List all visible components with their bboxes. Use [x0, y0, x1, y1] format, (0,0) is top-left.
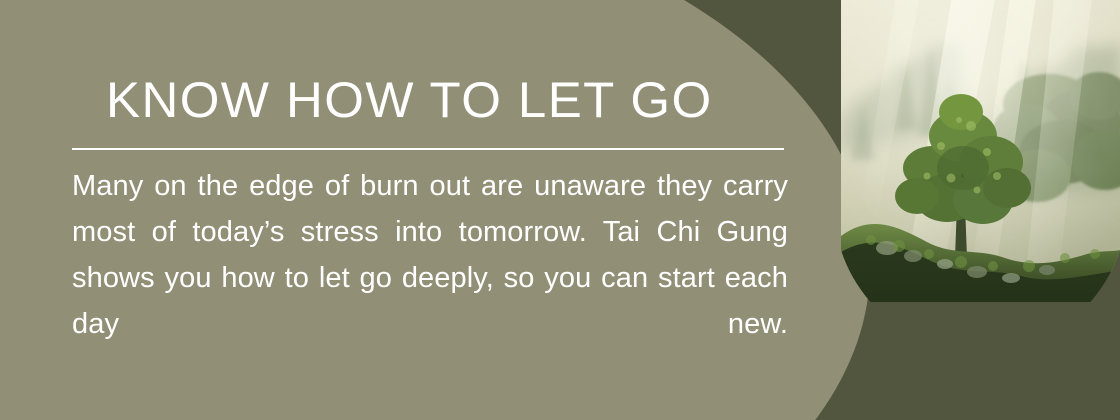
forest-photo-clip	[841, 0, 1120, 302]
body-paragraph: Many on the edge of burn out are unaware…	[72, 163, 788, 393]
title-divider	[72, 148, 784, 150]
forest-photo-panel	[841, 0, 1120, 302]
page-title: KNOW HOW TO LET GO	[106, 74, 802, 127]
promo-banner: KNOW HOW TO LET GO Many on the edge of b…	[0, 0, 1120, 420]
text-content: KNOW HOW TO LET GO Many on the edge of b…	[72, 74, 788, 393]
forest-photo-image	[841, 0, 1120, 302]
